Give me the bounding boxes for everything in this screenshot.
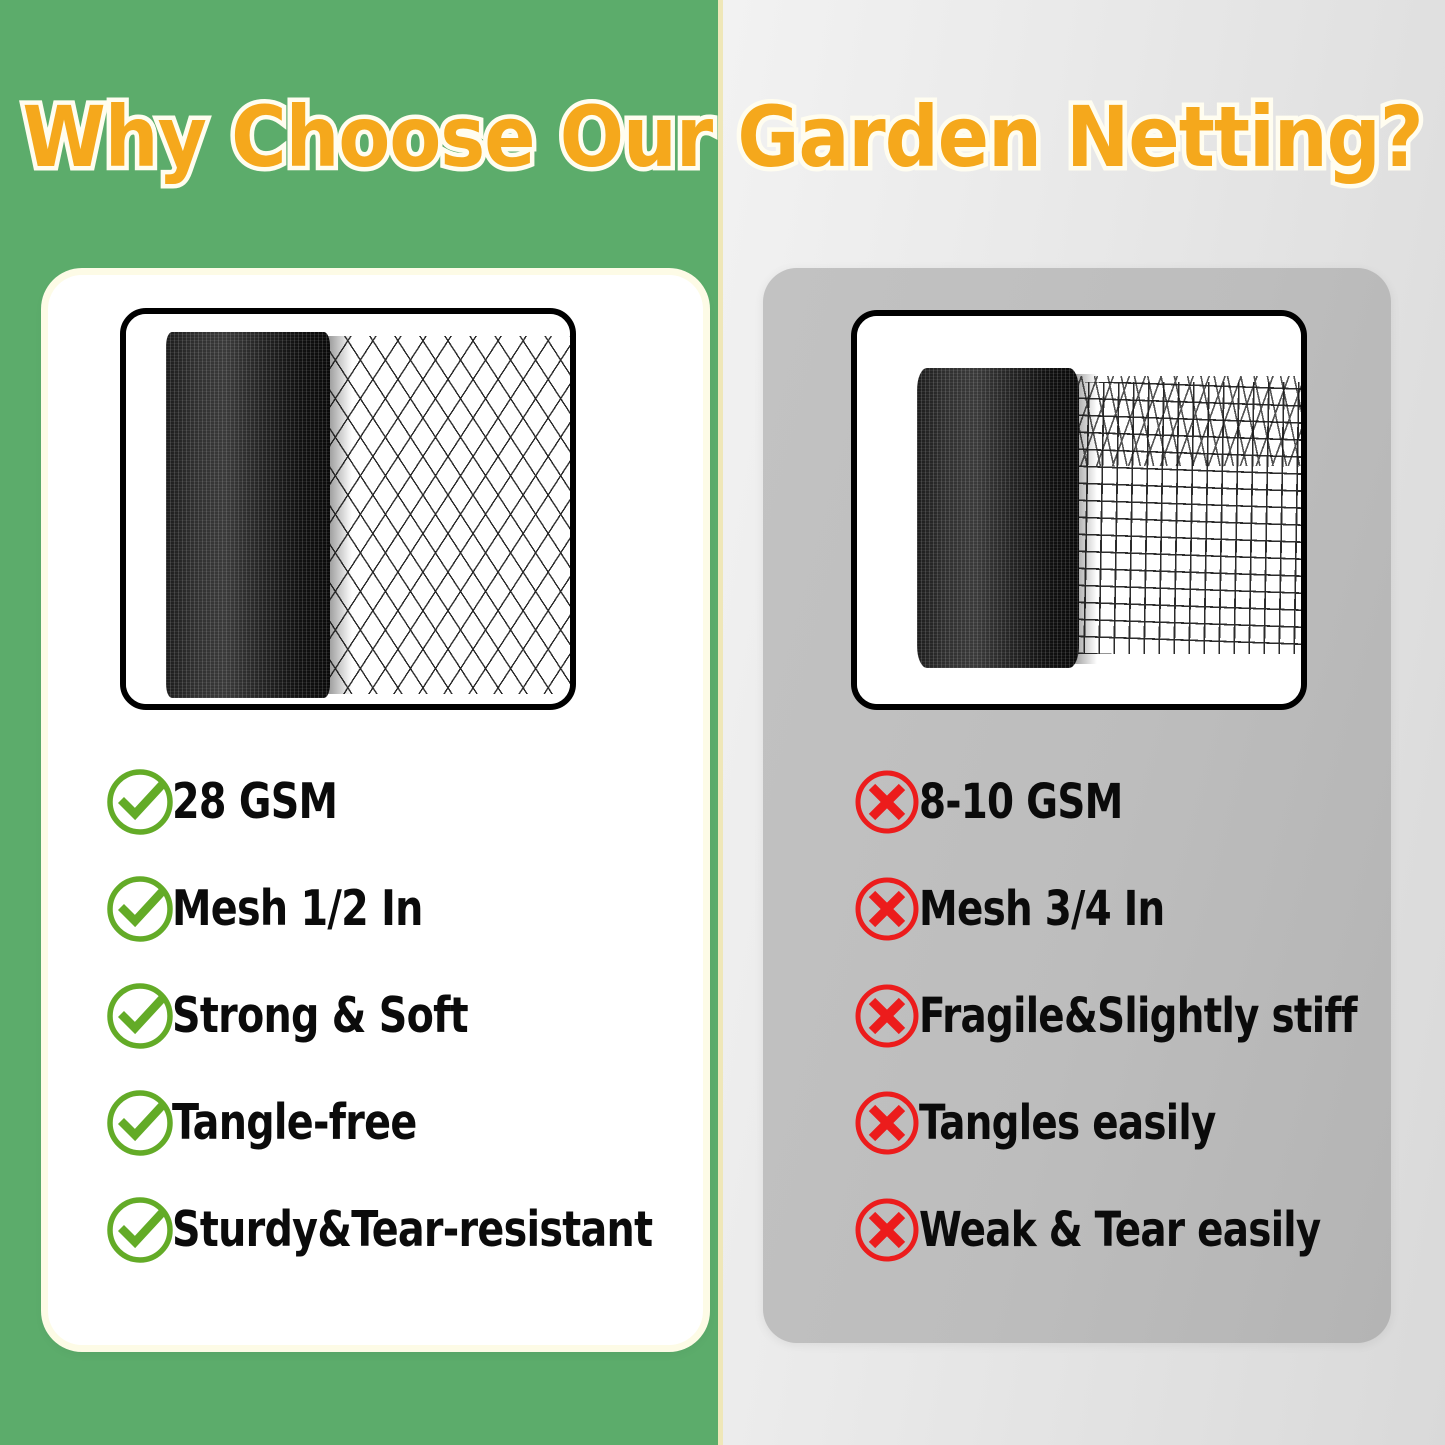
competitor-product-photo bbox=[857, 316, 1301, 704]
list-item-label: Strong & Soft bbox=[172, 991, 468, 1040]
page-title: Why Choose Our Garden Netting? bbox=[0, 88, 1445, 186]
check-circle-icon bbox=[104, 873, 176, 945]
list-item: Fragile&Slightly stiff bbox=[851, 962, 1405, 1069]
good-product-image-frame bbox=[120, 308, 576, 710]
good-product-card: 28 GSM Mesh 1/2 In Strong & Soft Tangle-… bbox=[48, 275, 703, 1345]
list-item: Mesh 1/2 In bbox=[104, 855, 706, 962]
good-product-photo bbox=[126, 314, 570, 704]
good-feature-list: 28 GSM Mesh 1/2 In Strong & Soft Tangle-… bbox=[104, 748, 706, 1283]
list-item-label: Fragile&Slightly stiff bbox=[919, 992, 1357, 1040]
list-item: Weak & Tear easily bbox=[851, 1176, 1405, 1283]
check-circle-icon bbox=[104, 980, 176, 1052]
list-item: 8-10 GSM bbox=[851, 748, 1405, 855]
loose-mesh-top-fringe bbox=[1073, 376, 1305, 466]
check-circle-icon bbox=[104, 1087, 176, 1159]
list-item-label: Tangle-free bbox=[172, 1098, 417, 1147]
list-item: Mesh 3/4 In bbox=[851, 855, 1405, 962]
netting-roll bbox=[917, 368, 1079, 668]
list-item-label: Mesh 3/4 In bbox=[919, 885, 1164, 933]
list-item: Strong & Soft bbox=[104, 962, 706, 1069]
list-item: Sturdy&Tear-resistant bbox=[104, 1176, 706, 1283]
competitor-feature-list: 8-10 GSM Mesh 3/4 In Fragile&Slightly st… bbox=[851, 748, 1405, 1283]
competitor-product-image-frame bbox=[851, 310, 1307, 710]
x-circle-icon bbox=[851, 980, 923, 1052]
check-circle-icon bbox=[104, 766, 176, 838]
list-item-label: 8-10 GSM bbox=[919, 778, 1123, 826]
netting-roll bbox=[166, 332, 330, 698]
list-item-label: Sturdy&Tear-resistant bbox=[172, 1205, 652, 1254]
list-item: Tangle-free bbox=[104, 1069, 706, 1176]
competitor-product-card: 8-10 GSM Mesh 3/4 In Fragile&Slightly st… bbox=[763, 268, 1391, 1343]
list-item-label: Weak & Tear easily bbox=[919, 1206, 1320, 1254]
x-circle-icon bbox=[851, 766, 923, 838]
list-item-label: Tangles easily bbox=[919, 1099, 1216, 1147]
list-item-label: 28 GSM bbox=[172, 777, 337, 826]
fine-diamond-mesh-pattern bbox=[326, 336, 570, 694]
list-item-label: Mesh 1/2 In bbox=[172, 884, 423, 933]
check-circle-icon bbox=[104, 1194, 176, 1266]
x-circle-icon bbox=[851, 1194, 923, 1266]
x-circle-icon bbox=[851, 873, 923, 945]
list-item: Tangles easily bbox=[851, 1069, 1405, 1176]
list-item: 28 GSM bbox=[104, 748, 706, 855]
x-circle-icon bbox=[851, 1087, 923, 1159]
